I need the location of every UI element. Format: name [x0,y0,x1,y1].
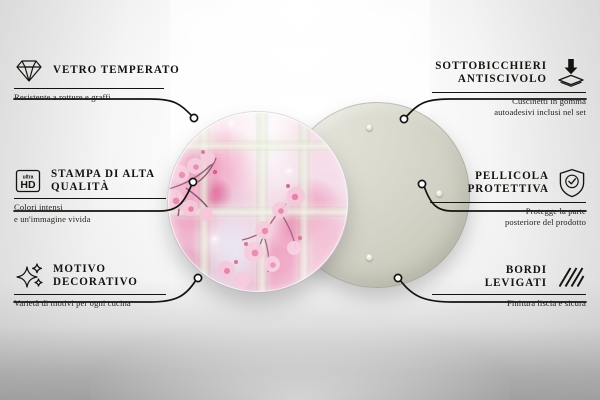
connector-marker [194,274,201,281]
feature-title-line: BORDI [485,264,547,277]
shield-check-icon [558,168,586,198]
feature-title-block: PELLICOLA PROTETTIVA [468,170,549,196]
feature-subtitle: Protegge la parte posteriore del prodott… [430,206,586,228]
feature-header: SOTTOBICCHIERI ANTISCIVOLO [432,58,586,88]
feature-rule [14,88,164,89]
connector-marker [418,180,425,187]
connector-marker [189,178,196,185]
feature-title: VETRO TEMPERATO [53,64,180,77]
feature-title-line: LEVIGATI [485,277,547,290]
feature-subtitle: Finitura liscia e sicura [432,298,586,309]
feature-title-block: SOTTOBICCHIERI ANTISCIVOLO [435,60,547,86]
feature-header: PELLICOLA PROTETTIVA [430,168,586,198]
feature-header: BORDI LEVIGATI [432,264,586,290]
feature-pellicola-protettiva: PELLICOLA PROTETTIVA Protegge la parte p… [430,168,586,228]
connector-marker [400,115,407,122]
feature-rule [432,294,586,295]
feature-rule [432,92,586,93]
feature-rule [430,202,586,203]
feature-title-line: PELLICOLA [468,170,549,183]
feature-title-line: DECORATIVO [53,276,138,289]
feature-sottobicchieri-antiscivolo: SOTTOBICCHIERI ANTISCIVOLO Cuscinetti in… [432,58,586,118]
feature-title-line: QUALITÀ [51,181,155,194]
feature-header: MOTIVO DECORATIVO [14,262,166,290]
feature-rule [14,198,166,199]
feature-title-block: MOTIVO DECORATIVO [53,263,138,289]
feature-subtitle: Colori intensi e un'immagine vivida [14,202,166,224]
feature-title-line: PROTETTIVA [468,183,549,196]
feature-subtitle: Cuscinetti in gomma autoadesivi inclusi … [432,96,586,118]
feature-title-block: BORDI LEVIGATI [485,264,547,290]
diagonal-lines-icon [556,264,586,290]
stacked-pads-arrow-icon [556,58,586,88]
feature-motivo-decorativo: MOTIVO DECORATIVO Varietà di motivi per … [14,262,166,309]
feature-bordi-levigati: BORDI LEVIGATI Finitura liscia e sicura [432,264,586,310]
feature-title-line: MOTIVO [53,263,138,276]
ultra-hd-big-label: HD [20,179,36,191]
feature-subtitle: Resistente a rotture e graffi [14,92,164,103]
feature-header: VETRO TEMPERATO [14,58,164,84]
feature-title-line: STAMPA DI ALTA [51,168,155,181]
infographic-canvas: VETRO TEMPERATO Resistente a rotture e g… [0,0,600,400]
ultra-hd-icon: ultra HD [14,168,42,194]
connector-marker [394,274,401,281]
feature-vetro-temperato: VETRO TEMPERATO Resistente a rotture e g… [14,58,164,103]
connector-marker [190,114,197,121]
feature-title-block: STAMPA DI ALTA QUALITÀ [51,168,155,194]
feature-header: ultra HD STAMPA DI ALTA QUALITÀ [14,168,166,194]
diamond-icon [14,58,44,84]
feature-rule [14,294,166,295]
sparkles-icon [14,262,44,290]
feature-title-line: ANTISCIVOLO [435,73,547,86]
feature-title-line: SOTTOBICCHIERI [435,60,547,73]
feature-subtitle: Varietà di motivi per ogni cucina [14,298,166,309]
feature-stampa-alta-qualita: ultra HD STAMPA DI ALTA QUALITÀ Colori i… [14,168,166,225]
